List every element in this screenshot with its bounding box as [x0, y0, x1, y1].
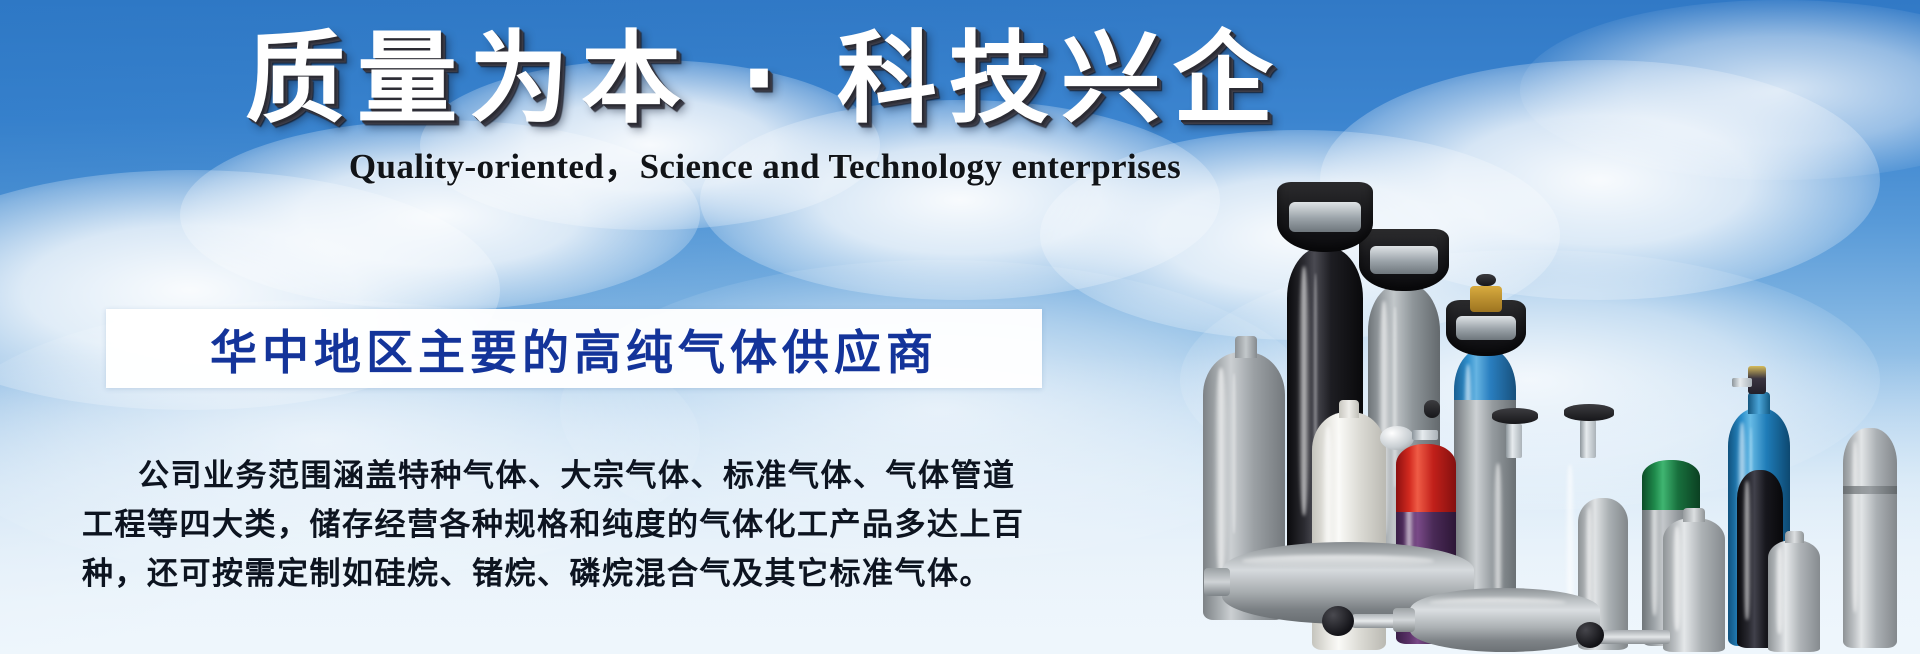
aluminium-cylinder-d-neck [1785, 531, 1804, 543]
aluminium-cylinder-b [1663, 518, 1725, 652]
description-paragraph: 公司业务范围涵盖特种气体、大宗气体、标准气体、气体管道 工程等四大类，储存经营各… [82, 452, 1092, 599]
aluminium-cylinder-a-neck [1593, 488, 1613, 502]
regulator-knob [1424, 400, 1440, 418]
horizontal-tank-large-valve-knob [1322, 606, 1354, 636]
horizontal-tank-small [1410, 588, 1600, 652]
grey-valve-stem [1506, 424, 1522, 458]
slogan-box: 华中地区主要的高纯气体供应商 [106, 309, 1042, 388]
promo-banner: 质量为本 · 科技兴企 Quality-oriented，Science and… [0, 0, 1920, 654]
grey-handwheel-knob [1564, 404, 1614, 421]
grey-valve-handwheel [1492, 408, 1538, 424]
black-cylinder-cap-guard [1277, 182, 1373, 252]
grey-cylinder-cap-guard [1359, 229, 1449, 291]
regulator-gauge-icon [1380, 426, 1414, 450]
valve-handle-icon [1476, 274, 1496, 286]
aluminium-cylinder-c [1843, 428, 1897, 648]
brass-valve-icon [1470, 286, 1502, 312]
gas-cylinder-group-photo [1140, 0, 1920, 654]
horizontal-tank-small-endcap [1393, 608, 1415, 632]
slogan-text: 华中地区主要的高纯气体供应商 [210, 314, 938, 383]
aluminium-cylinder-c-neck [1860, 418, 1880, 432]
side-valve-knob [1576, 622, 1604, 648]
paragraph-line: 种，还可按需定制如硅烷、锗烷、磷烷混合气及其它标准气体。 [82, 550, 1092, 599]
aluminium-cylinder-d [1768, 540, 1820, 652]
regulator-stem [1412, 430, 1438, 440]
grey-matte-cylinder-neck [1235, 336, 1257, 358]
horizontal-tank-large-endcap [1204, 568, 1230, 596]
white-cylinder-neck [1339, 400, 1359, 418]
aluminium-cylinder-b-neck [1683, 508, 1705, 522]
small-valve-outlet [1732, 378, 1752, 387]
blue-tall-cylinder-neck [1748, 392, 1770, 414]
photo-edge-fade [1110, 0, 1200, 654]
paragraph-line: 公司业务范围涵盖特种气体、大宗气体、标准气体、气体管道 [82, 452, 1092, 501]
paragraph-line: 工程等四大类，储存经营各种规格和纯度的气体化工产品多达上百 [82, 501, 1092, 550]
subheadline-english: Quality-oriented，Science and Technology … [349, 138, 1181, 189]
grey-handwheel-stem [1580, 420, 1596, 458]
